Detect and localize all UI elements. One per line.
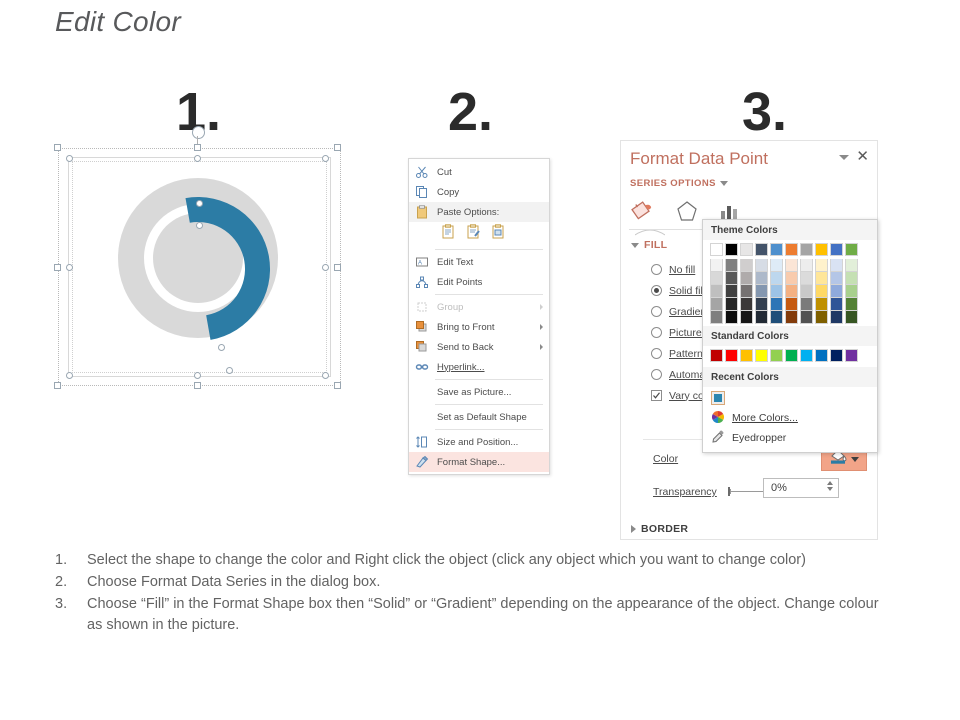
standard-colors-row[interactable]	[703, 346, 877, 367]
menu-item-edit-points[interactable]: Edit Points	[409, 272, 549, 292]
recent-colors-header: Recent Colors	[703, 367, 877, 387]
color-swatch[interactable]	[785, 272, 798, 285]
theme-color-column[interactable]	[845, 243, 858, 324]
menu-separator	[435, 379, 543, 380]
color-swatch[interactable]	[785, 285, 798, 298]
arc-point-handle-3[interactable]	[218, 344, 225, 351]
menu-label: Size and Position...	[437, 437, 518, 448]
spinner-arrows[interactable]	[827, 481, 833, 491]
color-swatch[interactable]	[725, 285, 738, 298]
resize-handle-n[interactable]	[194, 144, 201, 151]
eyedropper-item[interactable]: Eyedropper	[703, 428, 877, 448]
color-swatch[interactable]	[770, 285, 783, 298]
clipboard-icon	[415, 205, 429, 219]
donut-chart[interactable]	[118, 178, 298, 358]
color-swatch[interactable]	[815, 298, 828, 311]
transparency-row[interactable]: Transparency 0%	[653, 486, 868, 498]
resize-handle-s[interactable]	[194, 382, 201, 389]
selected-tab-underline	[635, 223, 665, 232]
menu-label: Cut	[437, 167, 452, 178]
standard-color-swatch[interactable]	[785, 349, 798, 362]
color-swatch[interactable]	[755, 259, 768, 272]
scissors-icon	[415, 165, 429, 179]
theme-colors-grid[interactable]	[703, 240, 877, 326]
eyedropper-icon	[711, 430, 725, 447]
color-swatch[interactable]	[845, 285, 858, 298]
inner-handle-ne[interactable]	[322, 155, 329, 162]
color-swatch[interactable]	[830, 243, 843, 256]
fill-option-label: Solid fill	[669, 285, 705, 297]
chevron-right-icon	[540, 344, 543, 350]
standard-color-swatch[interactable]	[755, 349, 768, 362]
standard-colors-header: Standard Colors	[703, 326, 877, 346]
color-swatch[interactable]	[740, 243, 753, 256]
chevron-right-icon	[540, 304, 543, 310]
color-swatch[interactable]	[770, 311, 783, 324]
copy-icon	[415, 185, 429, 199]
color-swatch[interactable]	[755, 298, 768, 311]
instruction-item: 1. Select the shape to change the color …	[55, 550, 885, 571]
slider-cap-left	[730, 489, 731, 494]
more-colors-label: More Colors...	[732, 412, 798, 424]
color-swatch[interactable]	[800, 285, 813, 298]
inner-handle-w[interactable]	[66, 264, 73, 271]
transparency-spinner[interactable]: 0%	[763, 478, 839, 498]
menu-label: Copy	[437, 187, 459, 198]
instruction-number: 1.	[55, 550, 87, 571]
resize-handle-w[interactable]	[54, 264, 61, 271]
radio-icon[interactable]	[651, 369, 662, 380]
border-label: BORDER	[641, 523, 688, 535]
theme-color-column[interactable]	[755, 243, 768, 324]
svg-text:A: A	[418, 261, 422, 267]
color-swatch[interactable]	[755, 285, 768, 298]
menu-label: Group	[437, 302, 463, 313]
color-swatch[interactable]	[785, 298, 798, 311]
chevron-down-icon[interactable]	[839, 155, 849, 160]
menu-label: Send to Back	[437, 342, 494, 353]
inner-handle-nw[interactable]	[66, 155, 73, 162]
color-swatch[interactable]	[845, 259, 858, 272]
arc-point-handle-4[interactable]	[226, 367, 233, 374]
instruction-text: Select the shape to change the color and…	[87, 550, 885, 571]
menu-separator	[435, 429, 543, 430]
fill-section-header[interactable]: FILL	[631, 239, 667, 251]
resize-handle-e[interactable]	[334, 264, 341, 271]
standard-color-swatch[interactable]	[815, 349, 828, 362]
color-swatch[interactable]	[800, 272, 813, 285]
arc-point-handle-2[interactable]	[196, 222, 203, 229]
color-swatch[interactable]	[845, 298, 858, 311]
color-swatch[interactable]	[830, 298, 843, 311]
radio-icon[interactable]	[651, 306, 662, 317]
theme-colors-header: Theme Colors	[703, 220, 877, 240]
donut-selected-arc[interactable]	[112, 164, 312, 374]
color-swatch[interactable]	[815, 285, 828, 298]
color-swatch[interactable]	[845, 243, 858, 256]
inner-handle-e[interactable]	[322, 264, 329, 271]
menu-item-copy[interactable]: Copy	[409, 182, 549, 202]
color-swatch[interactable]	[785, 311, 798, 324]
instruction-number: 2.	[55, 572, 87, 593]
color-swatch[interactable]	[710, 272, 723, 285]
spinner-up-icon[interactable]	[827, 481, 833, 485]
color-swatch[interactable]	[815, 311, 828, 324]
color-swatch[interactable]	[815, 243, 828, 256]
color-row[interactable]: Color	[653, 453, 863, 465]
color-swatch[interactable]	[725, 298, 738, 311]
send-back-icon	[415, 340, 429, 354]
color-swatch[interactable]	[770, 243, 783, 256]
menu-label: Edit Text	[437, 257, 473, 268]
fill-option-label: No fill	[669, 264, 695, 276]
edit-text-icon: A	[415, 255, 429, 269]
transparency-label: Transparency	[653, 486, 717, 498]
instruction-text: Choose “Fill” in the Format Shape box th…	[87, 594, 885, 636]
rotation-handle[interactable]	[192, 126, 205, 139]
paste-merge-icon[interactable]	[466, 224, 482, 243]
resize-handle-ne[interactable]	[334, 144, 341, 151]
color-swatch[interactable]	[845, 311, 858, 324]
color-swatch[interactable]	[815, 272, 828, 285]
theme-color-column[interactable]	[830, 243, 843, 324]
menu-item-edit-text[interactable]: A Edit Text	[409, 252, 549, 272]
instruction-number: 3.	[55, 594, 87, 636]
menu-item-paste-options[interactable]: Paste Options:	[409, 202, 549, 222]
format-shape-icon	[415, 455, 429, 469]
edit-points-icon	[415, 275, 429, 289]
series-options-dropdown[interactable]: SERIES OPTIONS	[630, 178, 728, 189]
color-swatch[interactable]	[710, 259, 723, 272]
inner-handle-n[interactable]	[194, 155, 201, 162]
caret-down-icon	[720, 181, 728, 186]
color-swatch[interactable]	[755, 243, 768, 256]
color-wheel-icon	[711, 410, 725, 427]
slide-canvas: Edit Color 1. 2. 3.	[0, 0, 960, 720]
paste-picture-icon[interactable]	[491, 224, 507, 243]
color-swatch[interactable]	[740, 259, 753, 272]
theme-color-column[interactable]	[740, 243, 753, 324]
radio-icon[interactable]	[651, 348, 662, 359]
theme-color-column[interactable]	[725, 243, 738, 324]
color-swatch[interactable]	[710, 311, 723, 324]
border-section-header[interactable]: BORDER	[631, 523, 688, 535]
radio-icon[interactable]	[651, 327, 662, 338]
color-swatch[interactable]	[800, 298, 813, 311]
resize-handle-se[interactable]	[334, 382, 341, 389]
menu-label: Paste Options:	[437, 207, 499, 218]
fill-label: FILL	[644, 239, 667, 251]
slider-track	[731, 491, 765, 492]
color-swatch[interactable]	[710, 285, 723, 298]
resize-handle-sw[interactable]	[54, 382, 61, 389]
triangle-right-icon	[631, 525, 636, 533]
instruction-item: 3. Choose “Fill” in the Format Shape box…	[55, 594, 885, 636]
close-icon[interactable]: ✕	[856, 149, 869, 164]
standard-color-swatch[interactable]	[740, 349, 753, 362]
theme-color-column[interactable]	[710, 243, 723, 324]
group-icon	[415, 300, 429, 314]
standard-color-swatch[interactable]	[770, 349, 783, 362]
color-picker-dropdown[interactable]: Theme Colors Standard Colors Recent Colo…	[702, 219, 878, 453]
radio-icon[interactable]	[651, 264, 662, 275]
color-swatch[interactable]	[770, 298, 783, 311]
color-swatch[interactable]	[800, 311, 813, 324]
effects-pentagon-icon[interactable]	[674, 199, 700, 230]
recent-color-swatch[interactable]	[711, 391, 725, 405]
color-swatch[interactable]	[830, 272, 843, 285]
menu-label: Bring to Front	[437, 322, 495, 333]
size-position-icon	[415, 435, 429, 449]
menu-item-group: Group	[409, 297, 549, 317]
color-swatch[interactable]	[755, 311, 768, 324]
color-label: Color	[653, 453, 678, 465]
caret-down-icon[interactable]	[851, 457, 859, 462]
spinner-down-icon[interactable]	[827, 487, 833, 491]
triangle-down-icon	[631, 243, 639, 248]
menu-item-save-as-picture[interactable]: Save as Picture...	[409, 382, 549, 402]
standard-color-swatch[interactable]	[710, 349, 723, 362]
color-swatch[interactable]	[740, 311, 753, 324]
radio-icon-selected[interactable]	[651, 285, 662, 296]
color-swatch[interactable]	[740, 272, 753, 285]
standard-color-swatch[interactable]	[845, 349, 858, 362]
more-colors-item[interactable]: More Colors...	[703, 408, 877, 428]
menu-item-size-and-position[interactable]: Size and Position...	[409, 432, 549, 452]
menu-item-format-shape[interactable]: Format Shape...	[409, 452, 549, 472]
theme-color-column[interactable]	[785, 243, 798, 324]
standard-color-swatch[interactable]	[800, 349, 813, 362]
chevron-right-icon	[540, 324, 543, 330]
menu-item-bring-to-front[interactable]: Bring to Front	[409, 317, 549, 337]
color-swatch[interactable]	[725, 272, 738, 285]
menu-item-set-as-default-shape[interactable]: Set as Default Shape	[409, 407, 549, 427]
paste-options-row[interactable]	[409, 222, 549, 247]
color-swatch[interactable]	[815, 259, 828, 272]
menu-label: Set as Default Shape	[437, 412, 527, 423]
menu-label: Edit Points	[437, 277, 482, 288]
eyedropper-label: Eyedropper	[732, 432, 786, 444]
color-swatch[interactable]	[740, 298, 753, 311]
menu-item-send-to-back[interactable]: Send to Back	[409, 337, 549, 357]
bring-front-icon	[415, 320, 429, 334]
series-options-label: SERIES OPTIONS	[630, 178, 716, 189]
step-number-2: 2.	[448, 85, 493, 139]
color-swatch[interactable]	[800, 243, 813, 256]
arc-point-handle-1[interactable]	[196, 200, 203, 207]
checkbox-icon-checked[interactable]	[651, 390, 662, 401]
inner-handle-se[interactable]	[322, 372, 329, 379]
context-menu[interactable]: Cut Copy Paste Options:	[408, 158, 550, 475]
menu-separator	[435, 249, 543, 250]
instruction-text: Choose Format Data Series in the dialog …	[87, 572, 885, 593]
slider-knob[interactable]	[728, 487, 730, 496]
menu-label: Format Shape...	[437, 457, 505, 468]
color-swatch[interactable]	[725, 243, 738, 256]
menu-label: Hyperlink...	[437, 362, 485, 373]
inner-handle-sw[interactable]	[66, 372, 73, 379]
color-swatch[interactable]	[845, 272, 858, 285]
theme-color-column[interactable]	[815, 243, 828, 324]
color-swatch[interactable]	[710, 243, 723, 256]
menu-separator	[435, 294, 543, 295]
color-swatch[interactable]	[830, 285, 843, 298]
hyperlink-icon	[415, 360, 429, 374]
color-swatch[interactable]	[830, 259, 843, 272]
color-swatch[interactable]	[725, 311, 738, 324]
menu-label: Save as Picture...	[437, 387, 511, 398]
resize-handle-nw[interactable]	[54, 144, 61, 151]
theme-color-column[interactable]	[770, 243, 783, 324]
pane-title: Format Data Point	[630, 149, 768, 169]
color-swatch[interactable]	[785, 243, 798, 256]
menu-separator	[435, 404, 543, 405]
menu-item-hyperlink[interactable]: Hyperlink...	[409, 357, 549, 377]
color-swatch[interactable]	[800, 259, 813, 272]
step-number-3: 3.	[742, 85, 787, 139]
selected-shape-panel[interactable]	[58, 148, 341, 386]
standard-color-swatch[interactable]	[725, 349, 738, 362]
color-swatch[interactable]	[725, 259, 738, 272]
color-swatch[interactable]	[710, 298, 723, 311]
color-swatch[interactable]	[755, 272, 768, 285]
paste-keep-formatting-icon[interactable]	[441, 224, 457, 243]
color-swatch[interactable]	[770, 259, 783, 272]
color-swatch[interactable]	[770, 272, 783, 285]
transparency-value: 0%	[771, 482, 787, 494]
instruction-item: 2. Choose Format Data Series in the dial…	[55, 572, 885, 593]
page-title: Edit Color	[55, 6, 181, 38]
color-swatch[interactable]	[785, 259, 798, 272]
menu-item-cut[interactable]: Cut	[409, 162, 549, 182]
instructions-list: 1. Select the shape to change the color …	[55, 550, 885, 637]
standard-color-swatch[interactable]	[830, 349, 843, 362]
color-swatch[interactable]	[740, 285, 753, 298]
color-swatch[interactable]	[830, 311, 843, 324]
theme-color-column[interactable]	[800, 243, 813, 324]
